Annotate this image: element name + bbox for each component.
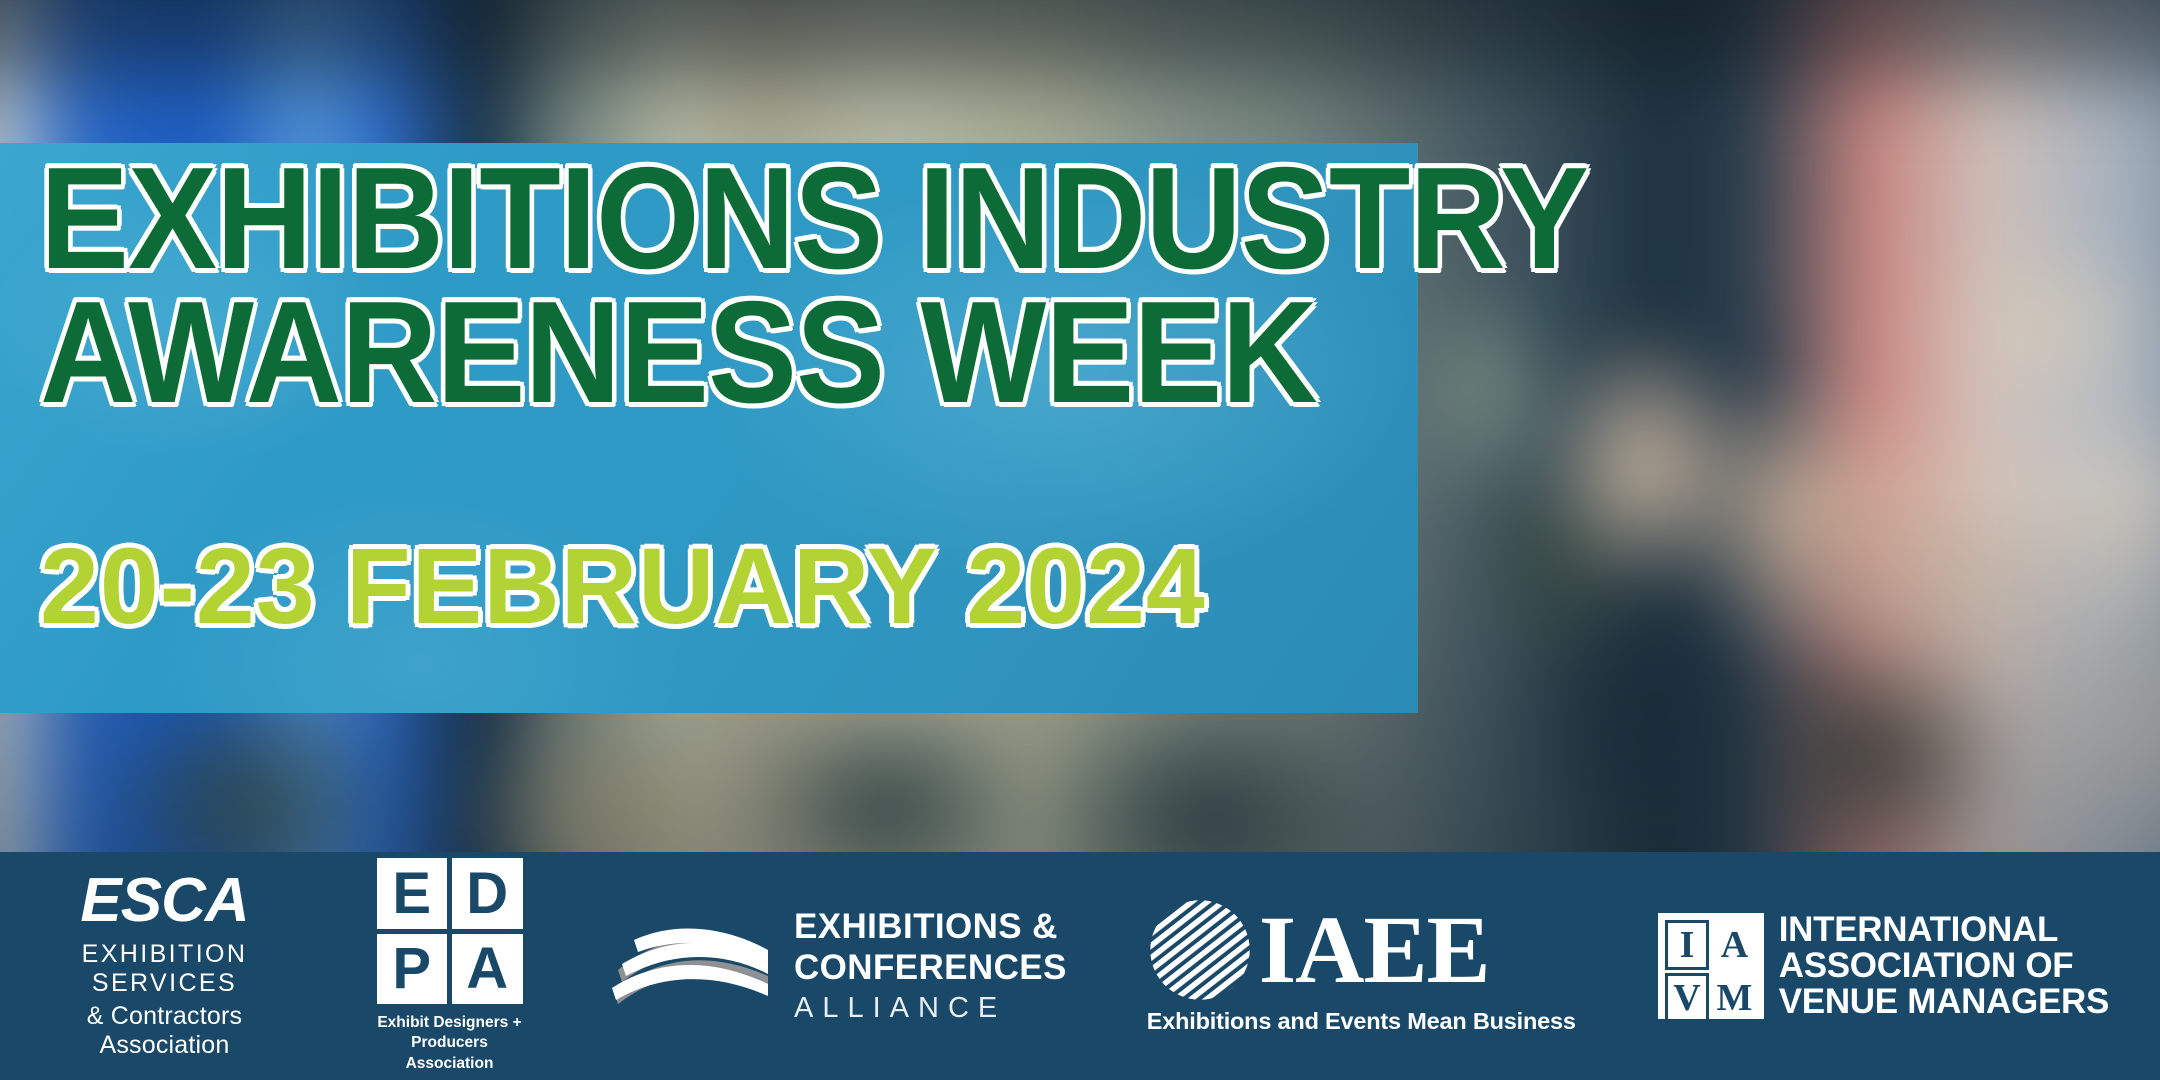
eca-line-1: EXHIBITIONS &	[794, 909, 1067, 944]
iavm-letter-grid: I A V M	[1658, 913, 1764, 1019]
title-line-1: EXHIBITIONS INDUSTRY	[40, 160, 1291, 276]
edpa-line-1: Exhibit Designers +	[367, 1013, 532, 1033]
esca-line-2: & Contractors Association	[42, 1002, 287, 1060]
edpa-letter-grid: E D P A	[377, 858, 523, 1004]
eca-line-3: ALLIANCE	[794, 994, 1067, 1023]
banner-stage: EXHIBITIONS INDUSTRY AWARENESS WEEK 20-2…	[0, 0, 2160, 1080]
iavm-letter-i: I	[1665, 920, 1710, 970]
iaee-wordmark: IAEE	[1259, 906, 1490, 994]
esca-wordmark: ESCA	[42, 872, 287, 931]
logo-iavm[interactable]: I A V M INTERNATIONAL ASSOCIATION OF VEN…	[1658, 912, 2109, 1019]
event-dates: 20-23 FEBRUARY 2024	[40, 532, 1206, 640]
iavm-line-1: INTERNATIONAL	[1779, 912, 2109, 948]
partner-logo-bar: ESCA EXHIBITION SERVICES & Contractors A…	[0, 852, 2160, 1080]
edpa-letter-e: E	[377, 858, 448, 929]
iaee-tagline: Exhibitions and Events Mean Business	[1147, 1008, 1576, 1035]
edpa-letter-a: A	[452, 934, 523, 1005]
iavm-letter-m: M	[1712, 973, 1757, 1023]
iavm-letter-v: V	[1665, 973, 1710, 1023]
edpa-letter-d: D	[452, 858, 523, 929]
eca-swoosh-icon	[608, 906, 778, 1026]
logo-esca[interactable]: ESCA EXHIBITION SERVICES & Contractors A…	[42, 872, 287, 1060]
edpa-line-2: Producers Association	[367, 1033, 532, 1073]
iavm-letter-a: A	[1712, 920, 1757, 970]
eca-line-2: CONFERENCES	[794, 950, 1067, 985]
iavm-line-2: ASSOCIATION OF	[1779, 948, 2109, 984]
title-block: EXHIBITIONS INDUSTRY AWARENESS WEEK	[40, 160, 1400, 410]
title-line-2: AWARENESS WEEK	[40, 294, 1291, 410]
iavm-line-3: VENUE MANAGERS	[1779, 984, 2109, 1020]
logo-edpa[interactable]: E D P A Exhibit Designers + Producers As…	[367, 858, 532, 1073]
iaee-globe-icon	[1147, 897, 1253, 1003]
esca-line-1: EXHIBITION SERVICES	[42, 940, 287, 998]
edpa-letter-p: P	[377, 934, 448, 1005]
logo-iaee[interactable]: IAEE Exhibitions and Events Mean Busines…	[1147, 897, 1576, 1035]
logo-exhibitions-conferences-alliance[interactable]: EXHIBITIONS & CONFERENCES ALLIANCE	[608, 906, 1067, 1026]
